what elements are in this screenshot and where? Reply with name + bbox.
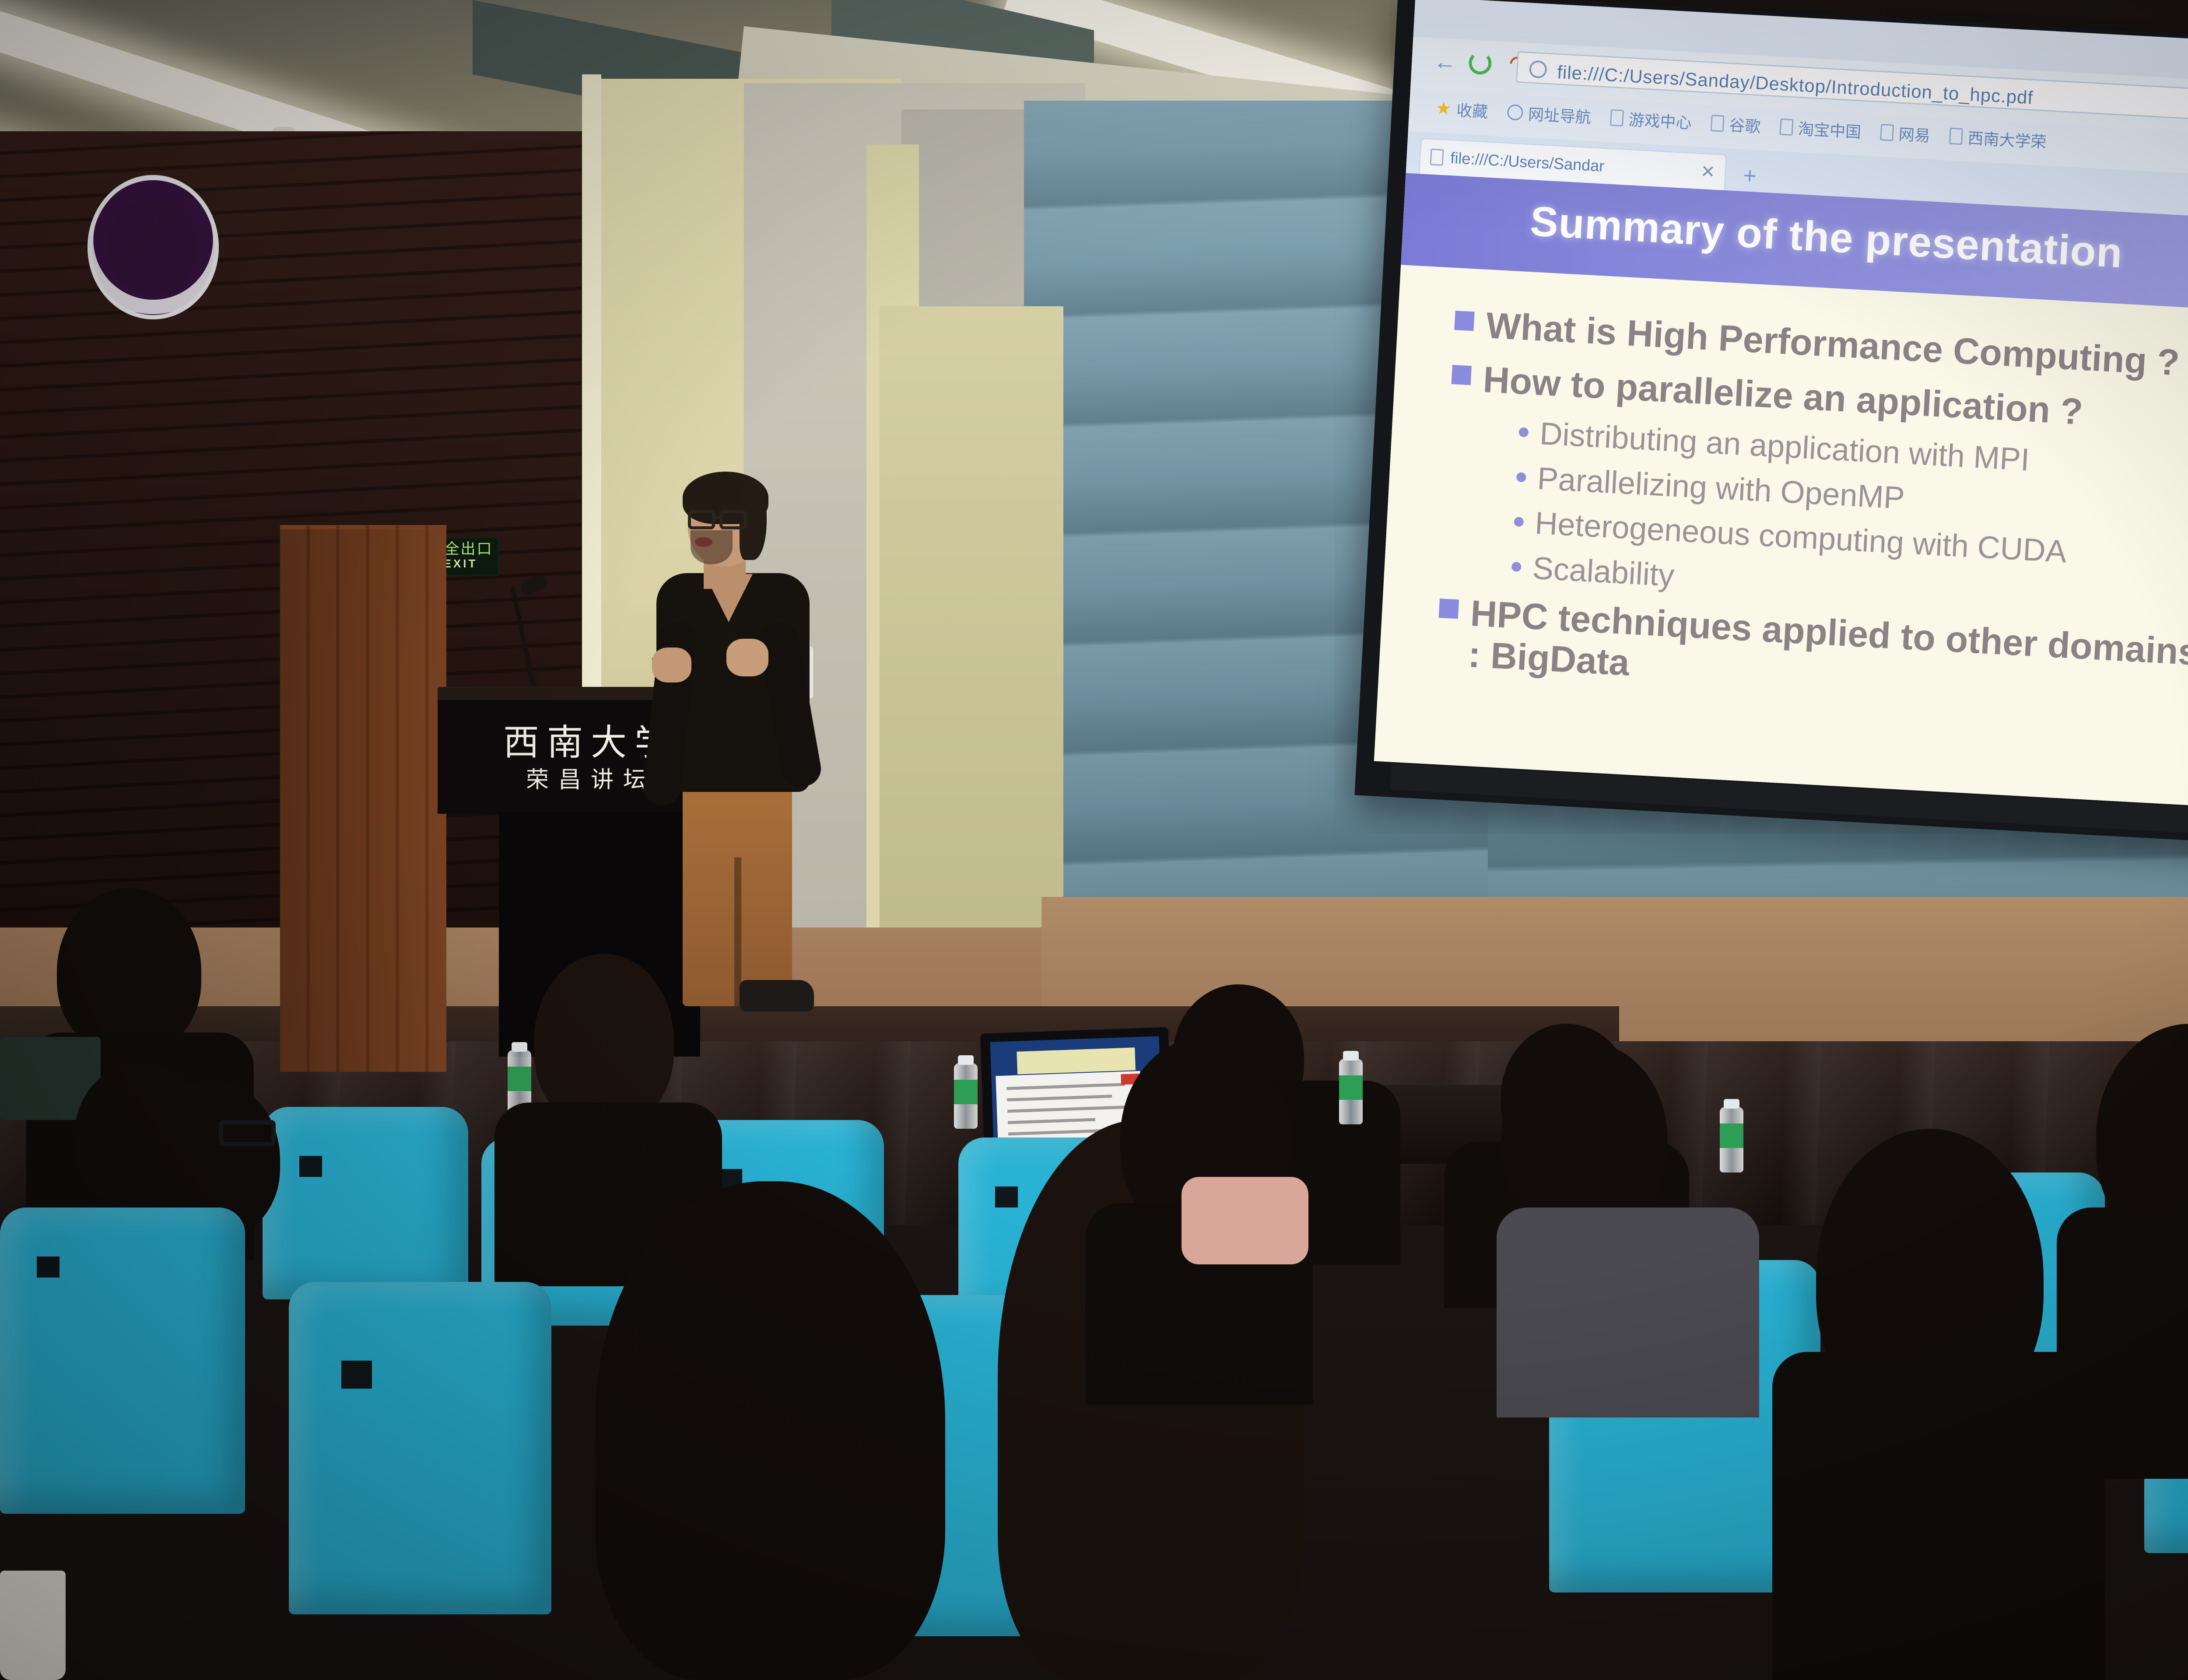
bottle-label — [1720, 1123, 1743, 1148]
water-bottle — [954, 1063, 978, 1129]
water-bottle — [1339, 1059, 1363, 1124]
podium-wood-shade — [280, 529, 446, 1072]
seat-cover — [263, 1107, 468, 1299]
refresh-icon[interactable] — [1468, 51, 1492, 75]
bookmark-site-nav[interactable]: 网址导航 — [1507, 101, 1592, 128]
bottle-label — [954, 1080, 978, 1104]
bottle-cap-icon — [1343, 1051, 1359, 1060]
square-bullet-icon — [1439, 598, 1459, 619]
speaker-hand-right — [726, 639, 768, 676]
exit-sign-english: EXIT — [444, 556, 478, 571]
page-icon — [1430, 149, 1444, 166]
bookmark-label: 谷歌 — [1729, 112, 1761, 137]
new-tab-icon[interactable]: + — [1743, 162, 1757, 189]
bookmark-swu[interactable]: 西南大学荣 — [1949, 125, 2048, 153]
bookmark-google[interactable]: 谷歌 — [1710, 112, 1761, 137]
seat-cover — [289, 1282, 551, 1614]
close-icon[interactable]: ✕ — [1700, 161, 1716, 182]
bookmark-label: 网址导航 — [1528, 102, 1592, 128]
dot-bullet-icon — [1514, 517, 1524, 527]
square-bullet-icon — [1452, 365, 1472, 385]
bookmark-label: 收藏 — [1456, 98, 1489, 122]
eyeglasses-icon — [719, 510, 747, 529]
lecture-hall-photo: 安全出口 EXIT 翻译 ☆ ▾ S ← ↷ — [0, 0, 2188, 1680]
page-icon — [1610, 109, 1624, 127]
speaker-beard — [691, 530, 733, 564]
bottle-cap-icon — [1724, 1099, 1739, 1109]
bookmark-netease[interactable]: 网易 — [1880, 121, 1931, 146]
dot-bullet-icon — [1516, 472, 1526, 482]
pdf-slide: Summary of the presentation What is High… — [1374, 173, 2188, 817]
bottle-cap-icon — [512, 1042, 527, 1052]
projection-screen: 翻译 ☆ ▾ S ← ↷ file:///C:/Users/Sanday/Des… — [1354, 0, 2188, 852]
audience-torso — [1497, 1207, 1759, 1417]
bookmark-label: 淘宝中国 — [1798, 116, 1862, 143]
bottle-cap-icon — [958, 1055, 974, 1065]
bookmark-game-center[interactable]: 游戏中心 — [1610, 106, 1693, 133]
projection-screen-surface: 翻译 ☆ ▾ S ← ↷ file:///C:/Users/Sanday/Des… — [1374, 0, 2188, 816]
eyeglasses-bridge — [715, 516, 721, 519]
seat-tag — [299, 1156, 322, 1177]
paper-cup — [0, 1571, 66, 1680]
eyeglasses-icon — [219, 1120, 276, 1146]
tab-label: file:///C:/Users/Sandar — [1450, 149, 1605, 175]
bookmark-label: 游戏中心 — [1628, 107, 1693, 133]
cream-wall-lower — [880, 306, 1063, 1024]
bookmark-label: 西南大学荣 — [1967, 126, 2047, 153]
bookmark-favorites[interactable]: ★ 收藏 — [1435, 97, 1489, 122]
audience-head — [57, 888, 201, 1054]
hair-bow — [1182, 1177, 1308, 1264]
audience-head — [595, 1181, 945, 1680]
audience-head — [1501, 1041, 1667, 1234]
audience-torso — [2057, 1207, 2188, 1479]
page-icon — [1949, 128, 1963, 145]
audience-torso — [1772, 1352, 2105, 1680]
bullet-text: Scalability — [1532, 551, 1675, 594]
speaker-mouth — [695, 537, 712, 547]
globe-icon — [1529, 60, 1547, 79]
eyeglasses-icon — [688, 510, 715, 529]
page-icon — [1779, 119, 1793, 136]
bookmark-label: 网易 — [1898, 122, 1931, 146]
bullet-text: Parallelizing with OpenMP — [1536, 461, 1906, 516]
speaker-hand-left — [652, 647, 691, 682]
bottle-label — [508, 1067, 531, 1091]
bookmark-taobao[interactable]: 淘宝中国 — [1779, 115, 1862, 143]
speaker-shoe — [740, 980, 814, 1011]
water-bottle — [1720, 1107, 1743, 1172]
square-bullet-icon — [1454, 311, 1474, 331]
star-icon: ★ — [1435, 98, 1452, 119]
laptop-banner-ad — [1017, 1047, 1136, 1074]
seat-cover — [0, 1207, 245, 1514]
back-icon[interactable]: ← — [1433, 50, 1457, 74]
page-icon — [1880, 124, 1894, 141]
audience-head — [74, 1063, 206, 1207]
dot-bullet-icon — [1511, 562, 1522, 572]
seat-tag — [341, 1361, 372, 1389]
slide-bullet-list: What is High Performance Computing ? How… — [1435, 303, 2188, 737]
globe-icon — [1507, 104, 1523, 121]
seat-tag — [995, 1186, 1018, 1207]
seat-tag — [37, 1256, 60, 1277]
dot-bullet-icon — [1518, 427, 1529, 437]
university-seal-inner — [109, 199, 198, 295]
page-icon — [1711, 115, 1725, 132]
bottle-label — [1339, 1075, 1363, 1100]
